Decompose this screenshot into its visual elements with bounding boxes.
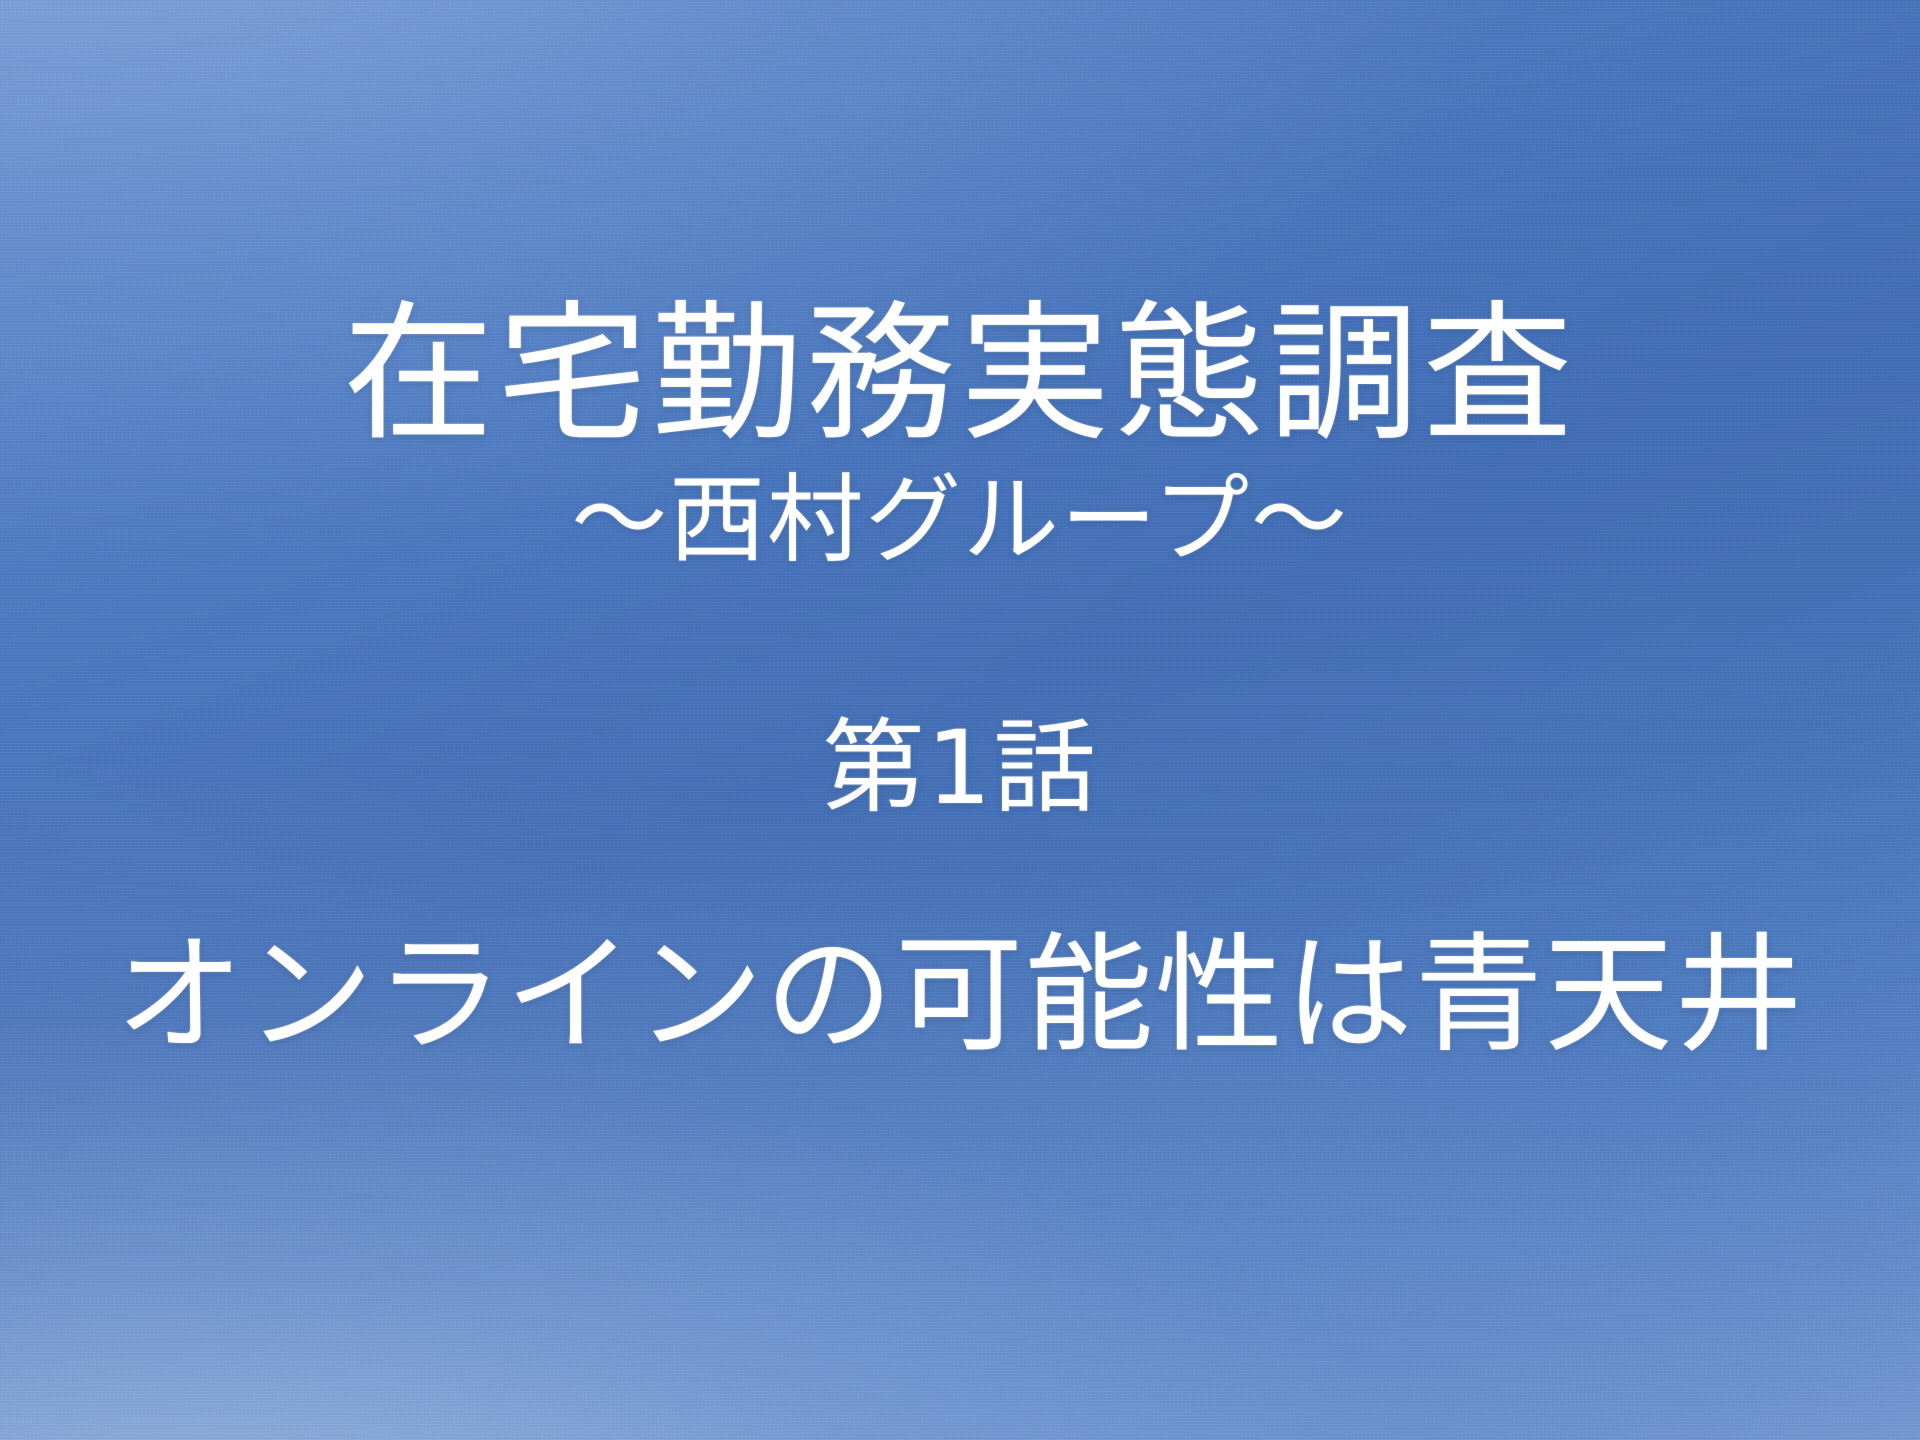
group-subtitle: 〜西村グループ〜	[571, 472, 1349, 568]
title-slide: 在宅勤務実態調査 〜西村グループ〜 第1話 オンラインの可能性は青天井	[0, 0, 1920, 1440]
main-title: 在宅勤務実態調査	[343, 300, 1577, 450]
slide-content: 在宅勤務実態調査 〜西村グループ〜 第1話 オンラインの可能性は青天井	[0, 0, 1920, 1440]
episode-title: オンラインの可能性は青天井	[116, 932, 1805, 1060]
episode-number: 第1話	[822, 718, 1097, 820]
